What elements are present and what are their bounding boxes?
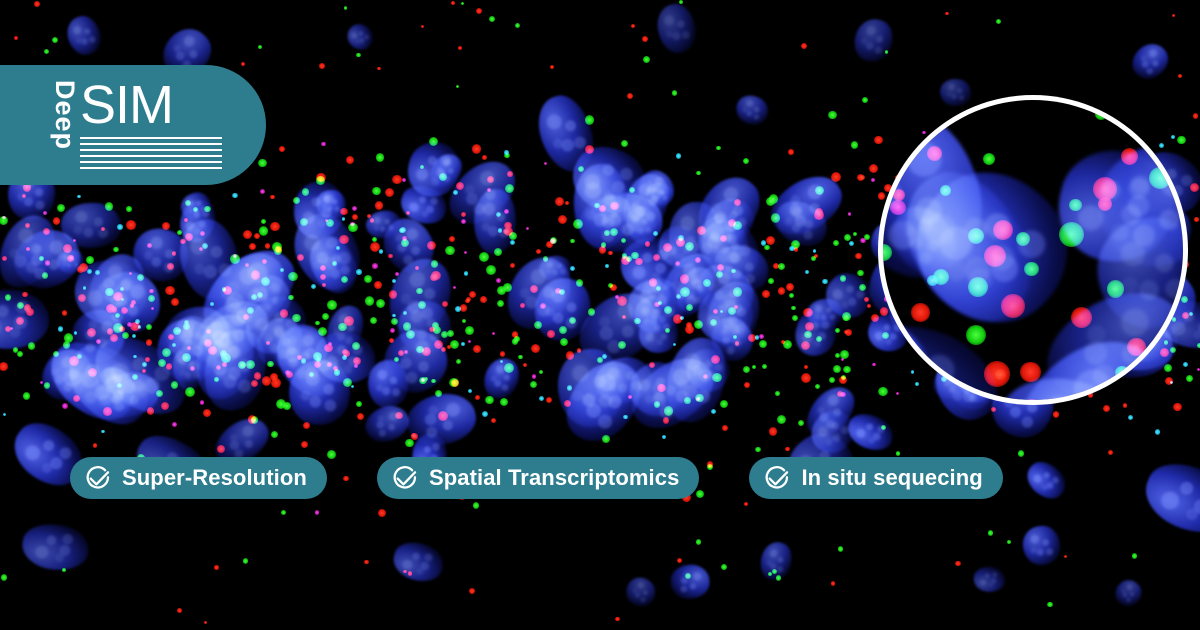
fluorescent-punctum bbox=[372, 263, 377, 268]
fluorescent-punctum bbox=[45, 260, 51, 266]
fluorescent-punctum bbox=[450, 340, 459, 349]
fluorescent-punctum bbox=[1155, 429, 1161, 435]
fluorescent-punctum bbox=[148, 295, 155, 302]
fluorescent-punctum bbox=[642, 36, 648, 42]
fluorescent-punctum bbox=[539, 370, 543, 374]
fluorescent-punctum bbox=[734, 305, 738, 309]
fluorescent-punctum bbox=[63, 244, 72, 253]
fluorescent-punctum bbox=[311, 284, 316, 289]
fluorescent-punctum bbox=[232, 193, 237, 198]
fluorescent-punctum bbox=[171, 298, 179, 306]
feature-badge[interactable]: Spatial Transcriptomics bbox=[377, 457, 700, 499]
cell-nucleus bbox=[1136, 452, 1200, 545]
fluorescent-punctum bbox=[828, 111, 836, 119]
fluorescent-punctum bbox=[346, 156, 355, 165]
fluorescent-punctum bbox=[356, 269, 361, 274]
fluorescent-punctum bbox=[534, 321, 542, 329]
fluorescent-punctum bbox=[473, 345, 481, 353]
fluorescent-punctum bbox=[372, 187, 381, 196]
fluorescent-punctum bbox=[744, 382, 750, 388]
fluorescent-punctum bbox=[279, 146, 285, 152]
fluorescent-punctum bbox=[721, 564, 727, 570]
fluorescent-punctum bbox=[95, 270, 100, 275]
fluorescent-punctum bbox=[3, 413, 6, 416]
fluorescent-punctum bbox=[676, 238, 685, 247]
fluorescent-punctum bbox=[469, 588, 475, 594]
fluorescent-punctum bbox=[804, 331, 811, 338]
fluorescent-punctum bbox=[456, 85, 459, 88]
fluorescent-punctum bbox=[23, 392, 31, 400]
fluorescent-punctum bbox=[350, 222, 355, 227]
fluorescent-punctum bbox=[214, 565, 218, 569]
fluorescent-punctum bbox=[578, 166, 584, 172]
fluorescent-punctum bbox=[86, 256, 93, 263]
fluorescent-punctum bbox=[851, 141, 859, 149]
fluorescent-punctum bbox=[599, 205, 605, 211]
fluorescent-punctum bbox=[1173, 403, 1181, 411]
cell-nucleus bbox=[848, 13, 898, 66]
fluorescent-punctum bbox=[126, 206, 131, 211]
fluorescent-punctum bbox=[544, 162, 547, 165]
fluorescent-punctum bbox=[147, 243, 152, 248]
fluorescent-punctum bbox=[342, 355, 347, 360]
fluorescent-punctum bbox=[405, 439, 414, 448]
fluorescent-punctum bbox=[896, 451, 900, 455]
fluorescent-punctum bbox=[275, 246, 282, 253]
cell-nucleus bbox=[621, 572, 662, 612]
fluorescent-punctum bbox=[532, 374, 536, 378]
fluorescent-punctum bbox=[570, 239, 574, 243]
fluorescent-punctum bbox=[815, 384, 820, 389]
fluorescent-punctum bbox=[53, 217, 61, 225]
fluorescent-punctum bbox=[254, 233, 260, 239]
cell-nucleus bbox=[654, 1, 699, 56]
fluorescent-punctum bbox=[945, 12, 949, 16]
fluorescent-punctum bbox=[167, 263, 173, 269]
fluorescent-punctum bbox=[376, 299, 385, 308]
fluorescent-punctum bbox=[404, 350, 408, 354]
logo-mark-group: SIM bbox=[80, 81, 222, 169]
fluorescent-punctum bbox=[376, 153, 385, 162]
fluorescent-punctum bbox=[456, 359, 461, 364]
fluorescent-punctum bbox=[848, 212, 851, 215]
fluorescent-punctum bbox=[910, 136, 922, 148]
fluorescent-punctum bbox=[121, 307, 128, 314]
fluorescent-punctum bbox=[835, 353, 840, 358]
fluorescent-punctum bbox=[441, 331, 448, 338]
fluorescent-punctum bbox=[22, 292, 28, 298]
fluorescent-punctum bbox=[206, 329, 211, 334]
fluorescent-punctum bbox=[663, 417, 669, 423]
fluorescent-punctum bbox=[665, 328, 670, 333]
fluorescent-punctum bbox=[379, 249, 384, 254]
fluorescent-punctum bbox=[968, 228, 984, 244]
fluorescent-punctum bbox=[172, 422, 177, 427]
fluorescent-punctum bbox=[182, 353, 191, 362]
fluorescent-punctum bbox=[1053, 411, 1059, 417]
fluorescent-punctum bbox=[762, 364, 767, 369]
fluorescent-punctum bbox=[421, 25, 424, 28]
fluorescent-punctum bbox=[838, 546, 844, 552]
fluorescent-punctum bbox=[93, 443, 97, 447]
fluorescent-punctum bbox=[158, 359, 166, 367]
fluorescent-punctum bbox=[392, 175, 402, 185]
fluorescent-punctum bbox=[374, 281, 382, 289]
fluorescent-punctum bbox=[342, 217, 345, 220]
feature-badge-label: Spatial Transcriptomics bbox=[429, 467, 680, 489]
logo-prefix-text: Deep bbox=[51, 80, 78, 150]
fluorescent-punctum bbox=[911, 303, 930, 322]
fluorescent-punctum bbox=[497, 286, 505, 294]
fluorescent-punctum bbox=[222, 287, 227, 292]
fluorescent-punctum bbox=[251, 416, 258, 423]
fluorescent-punctum bbox=[722, 425, 728, 431]
fluorescent-punctum bbox=[62, 310, 68, 316]
fluorescent-punctum bbox=[1107, 280, 1124, 297]
fluorescent-punctum bbox=[833, 240, 839, 246]
fluorescent-punctum bbox=[449, 236, 455, 242]
fluorescent-punctum bbox=[653, 254, 660, 261]
fluorescent-punctum bbox=[184, 218, 188, 222]
fluorescent-punctum bbox=[338, 323, 346, 331]
fluorescent-punctum bbox=[531, 344, 540, 353]
fluorescent-punctum bbox=[445, 246, 455, 256]
fluorescent-punctum bbox=[798, 420, 804, 426]
fluorescent-punctum bbox=[301, 441, 308, 448]
fluorescent-punctum bbox=[615, 617, 620, 622]
fluorescent-punctum bbox=[220, 350, 228, 358]
fluorescent-punctum bbox=[890, 200, 905, 215]
fluorescent-punctum bbox=[672, 90, 677, 95]
fluorescent-punctum bbox=[504, 209, 509, 214]
fluorescent-punctum bbox=[322, 313, 329, 320]
fluorescent-punctum bbox=[1132, 553, 1138, 559]
fluorescent-punctum bbox=[1190, 183, 1199, 192]
fluorescent-punctum bbox=[505, 184, 514, 193]
fluorescent-punctum bbox=[62, 568, 66, 572]
fluorescent-punctum bbox=[1186, 375, 1193, 382]
fluorescent-punctum bbox=[461, 2, 465, 6]
fluorescent-punctum bbox=[955, 561, 961, 567]
fluorescent-punctum bbox=[576, 279, 583, 286]
fluorescent-punctum bbox=[185, 387, 195, 397]
fluorescent-punctum bbox=[801, 43, 808, 50]
fluorescent-punctum bbox=[735, 341, 739, 345]
fluorescent-punctum bbox=[389, 290, 398, 299]
fluorescent-punctum bbox=[573, 219, 583, 229]
fluorescent-punctum bbox=[599, 246, 606, 253]
fluorescent-punctum bbox=[610, 202, 618, 210]
fluorescent-punctum bbox=[259, 226, 269, 236]
fluorescent-punctum bbox=[1127, 338, 1145, 356]
fluorescent-punctum bbox=[280, 309, 288, 317]
fluorescent-punctum bbox=[389, 338, 394, 343]
fluorescent-punctum bbox=[190, 366, 195, 371]
fluorescent-punctum bbox=[585, 145, 594, 154]
fluorescent-punctum bbox=[73, 395, 80, 402]
fluorescent-punctum bbox=[458, 46, 463, 51]
feature-badge[interactable]: In situ sequecing bbox=[749, 457, 1002, 499]
fluorescent-punctum bbox=[843, 366, 851, 374]
fluorescent-punctum bbox=[621, 140, 629, 148]
fluorescent-punctum bbox=[62, 403, 68, 409]
feature-badge[interactable]: Super-Resolution bbox=[70, 457, 327, 499]
fluorescent-punctum bbox=[984, 245, 1006, 267]
fluorescent-punctum bbox=[1121, 148, 1138, 165]
fluorescent-punctum bbox=[657, 384, 665, 392]
fluorescent-punctum bbox=[565, 201, 569, 205]
fluorescent-punctum bbox=[1128, 415, 1133, 420]
fluorescent-punctum bbox=[356, 401, 362, 407]
fluorescent-punctum bbox=[1172, 14, 1175, 17]
fluorescent-punctum bbox=[473, 502, 479, 508]
fluorescent-punctum bbox=[500, 398, 508, 406]
fluorescent-punctum bbox=[451, 1, 455, 5]
fluorescent-punctum bbox=[365, 296, 375, 306]
brand-logo-plate[interactable]: Deep SIM bbox=[0, 65, 266, 185]
fluorescent-punctum bbox=[731, 269, 736, 274]
fluorescent-punctum bbox=[874, 136, 882, 144]
fluorescent-punctum bbox=[526, 227, 529, 230]
fluorescent-punctum bbox=[778, 263, 785, 270]
fluorescent-punctum bbox=[720, 310, 723, 313]
fluorescent-punctum bbox=[438, 411, 448, 421]
fluorescent-punctum bbox=[649, 362, 655, 368]
fluorescent-punctum bbox=[429, 327, 434, 332]
fluorescent-punctum bbox=[204, 206, 210, 212]
fluorescent-punctum bbox=[762, 290, 770, 298]
fluorescent-punctum bbox=[1178, 74, 1182, 78]
fluorescent-punctum bbox=[509, 232, 517, 240]
fluorescent-punctum bbox=[822, 279, 828, 285]
fluorescent-punctum bbox=[406, 211, 410, 215]
cell-nucleus bbox=[1110, 575, 1146, 611]
circle-check-icon bbox=[84, 464, 112, 492]
fluorescent-punctum bbox=[117, 383, 122, 388]
fluorescent-punctum bbox=[684, 397, 690, 403]
circle-check-icon bbox=[763, 464, 791, 492]
fluorescent-punctum bbox=[26, 247, 30, 251]
fluorescent-punctum bbox=[546, 397, 552, 403]
fluorescent-punctum bbox=[710, 319, 717, 326]
fluorescent-punctum bbox=[431, 260, 438, 267]
fluorescent-punctum bbox=[766, 197, 775, 206]
fluorescent-punctum bbox=[518, 355, 522, 359]
fluorescent-punctum bbox=[785, 447, 790, 452]
fluorescent-punctum bbox=[162, 222, 170, 230]
feature-badge-label: Super-Resolution bbox=[122, 467, 307, 489]
fluorescent-punctum bbox=[547, 330, 554, 337]
fluorescent-punctum bbox=[352, 206, 357, 211]
fluorescent-punctum bbox=[840, 275, 846, 281]
fluorescent-punctum bbox=[58, 326, 64, 332]
fluorescent-punctum bbox=[550, 65, 554, 69]
fluorescent-punctum bbox=[696, 171, 701, 176]
fluorescent-punctum bbox=[860, 175, 866, 181]
fluorescent-punctum bbox=[744, 502, 748, 506]
fluorescent-punctum bbox=[643, 56, 650, 63]
fluorescent-punctum bbox=[357, 413, 364, 420]
fluorescent-punctum bbox=[1067, 100, 1092, 103]
fluorescent-punctum bbox=[555, 197, 564, 206]
fluorescent-punctum bbox=[815, 186, 824, 195]
fluorescent-punctum bbox=[654, 401, 660, 407]
fluorescent-punctum bbox=[558, 215, 567, 224]
fluorescent-punctum bbox=[180, 239, 186, 245]
fluorescent-punctum bbox=[645, 241, 650, 246]
fluorescent-punctum bbox=[1149, 167, 1171, 189]
fluorescent-punctum bbox=[44, 49, 49, 54]
fluorescent-punctum bbox=[623, 415, 627, 419]
fluorescent-punctum bbox=[416, 288, 422, 294]
fluorescent-punctum bbox=[988, 530, 993, 535]
fluorescent-punctum bbox=[101, 227, 105, 231]
fluorescent-punctum bbox=[1115, 366, 1128, 379]
fluorescent-punctum bbox=[315, 510, 319, 514]
fluorescent-punctum bbox=[354, 364, 358, 368]
fluorescent-punctum bbox=[968, 277, 988, 297]
fluorescent-punctum bbox=[265, 243, 270, 248]
fluorescent-punctum bbox=[392, 279, 396, 283]
fluorescent-punctum bbox=[281, 510, 286, 515]
fluorescent-punctum bbox=[778, 287, 785, 294]
fluorescent-punctum bbox=[166, 363, 172, 369]
logo-stripe bbox=[80, 137, 222, 139]
logo-stripe bbox=[80, 155, 222, 157]
fluorescent-punctum bbox=[375, 201, 383, 209]
fluorescent-punctum bbox=[364, 275, 372, 283]
fluorescent-punctum bbox=[5, 294, 12, 301]
fluorescent-punctum bbox=[504, 153, 509, 158]
fluorescent-punctum bbox=[789, 293, 794, 298]
fluorescent-punctum bbox=[927, 275, 938, 286]
fluorescent-punctum bbox=[105, 288, 114, 297]
fluorescent-punctum bbox=[605, 264, 608, 267]
fluorescent-punctum bbox=[461, 342, 464, 345]
fluorescent-punctum bbox=[42, 272, 48, 278]
cell-nucleus bbox=[670, 564, 710, 598]
fluorescent-punctum bbox=[842, 312, 851, 321]
fluorescent-punctum bbox=[288, 272, 297, 281]
fluorescent-punctum bbox=[835, 328, 840, 333]
fluorescent-punctum bbox=[403, 570, 406, 573]
zoom-circle[interactable] bbox=[883, 100, 1183, 400]
logo-stripe bbox=[80, 167, 222, 169]
fluorescent-punctum bbox=[885, 50, 888, 53]
fluorescent-punctum bbox=[468, 340, 471, 343]
fluorescent-punctum bbox=[1018, 450, 1024, 456]
fluorescent-punctum bbox=[300, 218, 308, 226]
fluorescent-punctum bbox=[319, 63, 325, 69]
fluorescent-punctum bbox=[673, 343, 677, 347]
fluorescent-punctum bbox=[251, 380, 258, 387]
fluorescent-punctum bbox=[429, 137, 438, 146]
fluorescent-punctum bbox=[406, 330, 415, 339]
fluorescent-punctum bbox=[566, 351, 575, 360]
fluorescent-punctum bbox=[258, 159, 267, 168]
logo-mark-text: SIM bbox=[80, 81, 222, 131]
fluorescent-punctum bbox=[602, 435, 609, 442]
fluorescent-punctum bbox=[0, 362, 8, 371]
fluorescent-punctum bbox=[214, 377, 219, 382]
fluorescent-punctum bbox=[16, 317, 24, 325]
fluorescent-punctum bbox=[241, 62, 245, 66]
fluorescent-punctum bbox=[536, 249, 541, 254]
fluorescent-punctum bbox=[468, 389, 472, 393]
fluorescent-punctum bbox=[427, 241, 436, 250]
fluorescent-punctum bbox=[391, 318, 398, 325]
fluorescent-punctum bbox=[716, 146, 720, 150]
fluorescent-punctum bbox=[340, 208, 347, 215]
fluorescent-punctum bbox=[867, 304, 871, 308]
fluorescent-punctum bbox=[464, 251, 468, 255]
fluorescent-punctum bbox=[805, 322, 814, 331]
fluorescent-punctum bbox=[555, 288, 560, 293]
fluorescent-punctum bbox=[872, 363, 876, 367]
fluorescent-punctum bbox=[570, 266, 575, 271]
fluorescent-punctum bbox=[664, 306, 672, 314]
fluorescent-punctum bbox=[983, 153, 995, 165]
fluorescent-punctum bbox=[24, 304, 32, 312]
fluorescent-punctum bbox=[126, 220, 136, 230]
fluorescent-punctum bbox=[510, 263, 515, 268]
fluorescent-punctum bbox=[786, 283, 794, 291]
fluorescent-punctum bbox=[494, 248, 502, 256]
fluorescent-punctum bbox=[77, 354, 82, 359]
fluorescent-punctum bbox=[695, 257, 701, 263]
fluorescent-punctum bbox=[491, 418, 496, 423]
fluorescent-punctum bbox=[594, 203, 599, 208]
fluorescent-punctum bbox=[539, 396, 544, 401]
fluorescent-punctum bbox=[327, 300, 336, 309]
fluorescent-punctum bbox=[442, 301, 448, 307]
fluorescent-punctum bbox=[460, 304, 468, 312]
fluorescent-punctum bbox=[5, 326, 11, 332]
fluorescent-punctum bbox=[479, 252, 489, 262]
fluorescent-punctum bbox=[394, 357, 399, 362]
fluorescent-punctum bbox=[627, 93, 633, 99]
fluorescent-punctum bbox=[685, 242, 694, 251]
fluorescent-punctum bbox=[243, 230, 252, 239]
fluorescent-punctum bbox=[1047, 602, 1053, 608]
fluorescent-punctum bbox=[106, 304, 115, 313]
fluorescent-punctum bbox=[145, 357, 150, 362]
fluorescent-punctum bbox=[162, 348, 171, 357]
fluorescent-punctum bbox=[759, 340, 767, 348]
fluorescent-punctum bbox=[776, 575, 781, 580]
fluorescent-punctum bbox=[676, 153, 682, 159]
fluorescent-punctum bbox=[504, 363, 514, 373]
fluorescent-punctum bbox=[261, 219, 266, 224]
cell-nucleus bbox=[388, 537, 447, 587]
feature-badge-row: Super-ResolutionSpatial TranscriptomicsI… bbox=[70, 457, 1130, 499]
fluorescent-punctum bbox=[604, 230, 610, 236]
fluorescent-punctum bbox=[1095, 107, 1108, 120]
fluorescent-punctum bbox=[831, 172, 841, 182]
promo-banner: Deep SIM Super-ResolutionSpatial Transcr… bbox=[0, 0, 1200, 630]
fluorescent-punctum bbox=[475, 395, 480, 400]
fluorescent-punctum bbox=[792, 315, 798, 321]
fluorescent-punctum bbox=[680, 287, 690, 297]
fluorescent-punctum bbox=[560, 338, 568, 346]
fluorescent-punctum bbox=[183, 323, 190, 330]
fluorescent-punctum bbox=[881, 425, 886, 430]
fluorescent-punctum bbox=[105, 202, 114, 211]
fluorescent-punctum bbox=[267, 361, 273, 367]
fluorescent-punctum bbox=[283, 402, 291, 410]
fluorescent-punctum bbox=[185, 233, 193, 241]
fluorescent-punctum bbox=[512, 338, 518, 344]
